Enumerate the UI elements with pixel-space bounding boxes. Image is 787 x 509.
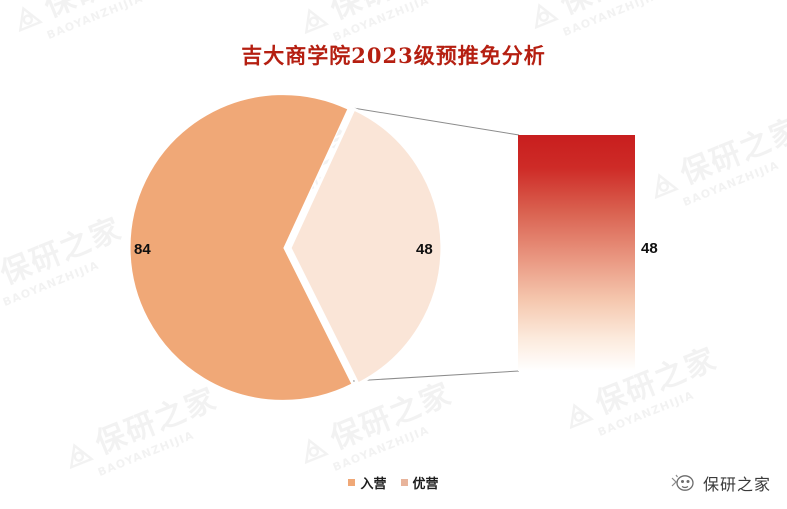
legend-label-youying: 优营: [413, 473, 439, 492]
chart-title: 吉大商学院2023级预推免分析: [0, 40, 787, 70]
bar-of-pie-plot: [0, 0, 787, 509]
brand-name: 保研之家: [703, 471, 771, 495]
pie-label-ruying: 84: [134, 241, 151, 258]
brand-mark: 保研之家: [670, 471, 771, 495]
secondary-bar[interactable]: [518, 135, 635, 371]
camera-face-logo-icon: [670, 472, 696, 494]
chart-legend: 入营 优营: [0, 473, 787, 492]
bar-value-label: 48: [641, 240, 658, 257]
legend-item-ruying[interactable]: 入营: [348, 473, 386, 492]
pie-label-youying: 48: [416, 241, 433, 258]
legend-swatch-youying: [401, 479, 408, 486]
legend-swatch-ruying: [348, 479, 355, 486]
legend-item-youying[interactable]: 优营: [401, 473, 439, 492]
legend-label-ruying: 入营: [360, 473, 386, 492]
chart-canvas: 保研之家 BAOYANZHIJIA 保研之家 BAOYANZHIJIA 保研之家…: [0, 0, 787, 509]
